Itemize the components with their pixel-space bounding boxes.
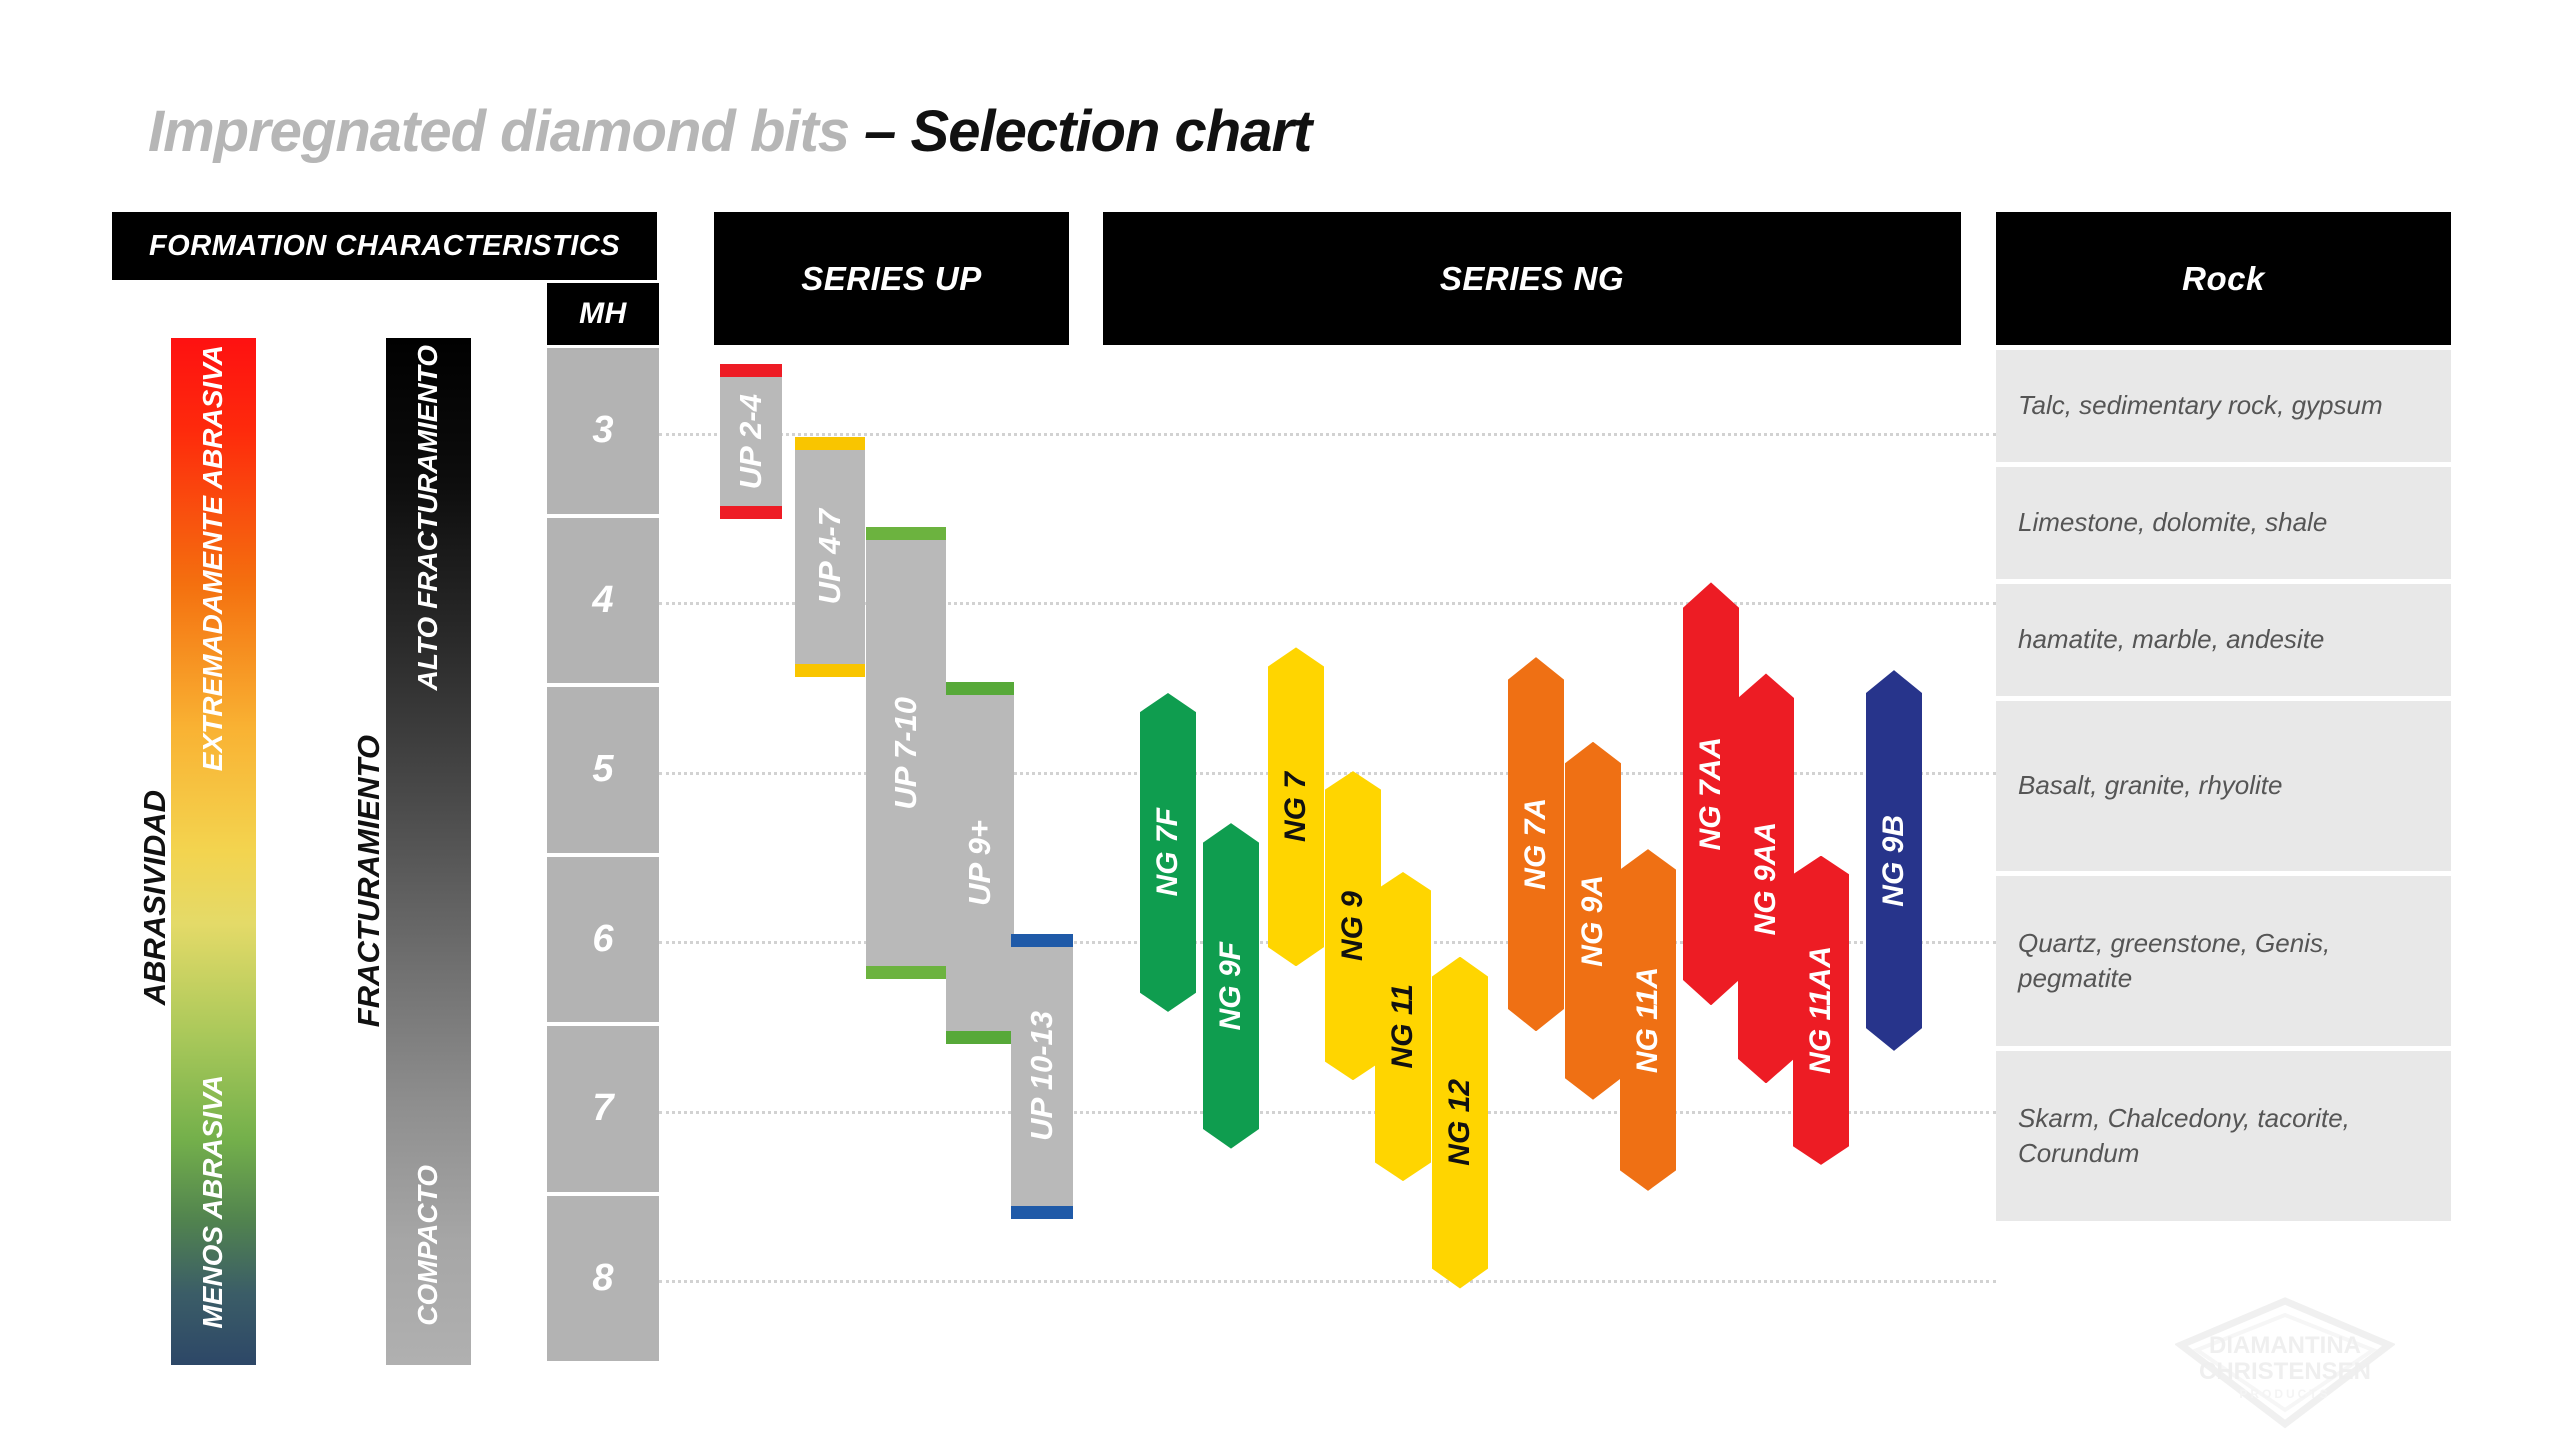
up-bar-label: UP 2-4 — [733, 394, 769, 489]
rock-row: Skarm, Chalcedony, tacorite, Corundum — [1996, 1051, 2451, 1221]
ng-arrow-label-wrap: NG 11AA — [1793, 856, 1849, 1165]
rock-row-text: hamatite, marble, andesite — [2018, 622, 2324, 657]
ng-arrow-label-wrap: NG 7 — [1268, 647, 1324, 966]
up-bar-label-wrap: UP 10-13 — [1011, 934, 1073, 1219]
up-bar-label: UP 10-13 — [1024, 1011, 1060, 1141]
header-formation-characteristics: FORMATION CHARACTERISTICS — [112, 212, 657, 280]
watermark-line3: PRODUCTS — [2239, 1387, 2330, 1401]
ng-series-arrow[interactable]: NG 7F — [1140, 693, 1196, 1012]
page-title-part2: – Selection chart — [864, 99, 1311, 164]
fracturamiento-axis-label: FRACTURAMIENTO — [351, 735, 387, 1027]
ng-arrow-label-wrap: NG 9 — [1325, 771, 1381, 1080]
ng-series-arrow[interactable]: NG 7 — [1268, 647, 1324, 966]
mh-scale-cell: 8 — [547, 1196, 659, 1362]
page-title: Impregnated diamond bits – Selection cha… — [148, 98, 1311, 165]
ng-series-arrow[interactable]: NG 9 — [1325, 771, 1381, 1080]
ng-arrow-label: NG 11AA — [1804, 946, 1838, 1074]
mh-scale-cell: 4 — [547, 518, 659, 684]
gridline — [659, 1280, 1996, 1283]
ng-arrow-label-wrap: NG 9A — [1565, 742, 1621, 1100]
ng-arrow-label: NG 7AA — [1694, 737, 1728, 850]
mh-scale-cell: 7 — [547, 1026, 659, 1192]
ng-arrow-label: NG 9 — [1336, 891, 1370, 961]
ng-arrow-label: NG 9A — [1576, 875, 1610, 967]
header-mh: MH — [547, 283, 659, 345]
fracturamiento-bottom-label: COMPACTO — [412, 1165, 444, 1326]
ng-arrow-label: NG 11A — [1631, 967, 1665, 1073]
up-series-bar[interactable]: UP 10-13 — [1011, 934, 1073, 1219]
up-bar-label-wrap: UP 9+ — [946, 682, 1014, 1045]
up-bar-label-wrap: UP 2-4 — [720, 364, 782, 519]
header-series-up: SERIES UP — [714, 212, 1069, 345]
ng-series-arrow[interactable]: NG 9AA — [1738, 673, 1794, 1083]
ng-series-arrow[interactable]: NG 7A — [1508, 657, 1564, 1031]
rock-row-text: Limestone, dolomite, shale — [2018, 505, 2327, 540]
ng-arrow-label-wrap: NG 11A — [1620, 849, 1676, 1191]
ng-series-arrow[interactable]: NG 7AA — [1683, 582, 1739, 1005]
up-bar-label: UP 4-7 — [812, 509, 848, 604]
mh-scale-column: 345678 — [547, 348, 659, 1365]
up-series-bar[interactable]: UP 4-7 — [795, 437, 865, 676]
ng-arrow-label-wrap: NG 7F — [1140, 693, 1196, 1012]
up-bar-label: UP 7-10 — [888, 697, 924, 810]
header-series-ng: SERIES NG — [1103, 212, 1961, 345]
ng-series-arrow[interactable]: NG 11AA — [1793, 856, 1849, 1165]
up-series-bar[interactable]: UP 7-10 — [866, 527, 946, 979]
up-bar-label: UP 9+ — [962, 820, 998, 906]
ng-series-arrow[interactable]: NG 12 — [1432, 957, 1488, 1289]
ng-arrow-label-wrap: NG 9AA — [1738, 673, 1794, 1083]
up-series-bar[interactable]: UP 2-4 — [720, 364, 782, 519]
mh-scale-cell: 5 — [547, 687, 659, 853]
header-rock: Rock — [1996, 212, 2451, 345]
rock-row: Quartz, greenstone, Genis, pegmatite — [1996, 876, 2451, 1046]
ng-arrow-label: NG 9AA — [1749, 822, 1783, 935]
ng-arrow-label-wrap: NG 9B — [1866, 670, 1922, 1051]
mh-scale-cell: 6 — [547, 857, 659, 1023]
rock-row-text: Basalt, granite, rhyolite — [2018, 768, 2282, 803]
fracturamiento-top-label: ALTO FRACTURAMIENTO — [412, 345, 444, 690]
rock-row: hamatite, marble, andesite — [1996, 584, 2451, 696]
ng-arrow-label: NG 11 — [1386, 984, 1420, 1068]
watermark-line2: CHRISTENSEN — [2199, 1358, 2371, 1385]
abrasividad-top-label: EXTREMADAMENTE ABRASIVA — [197, 345, 229, 771]
ng-series-arrow[interactable]: NG 9F — [1203, 823, 1259, 1148]
rock-row-text: Skarm, Chalcedony, tacorite, Corundum — [2018, 1101, 2429, 1171]
rock-row: Limestone, dolomite, shale — [1996, 467, 2451, 579]
ng-arrow-label-wrap: NG 9F — [1203, 823, 1259, 1148]
rock-row-text: Quartz, greenstone, Genis, pegmatite — [2018, 926, 2429, 996]
rock-row: Basalt, granite, rhyolite — [1996, 701, 2451, 871]
diamantina-christensen-logo-watermark: DIAMANTINA CHRISTENSEN PRODUCTS — [2175, 1295, 2395, 1430]
ng-arrow-label-wrap: NG 7A — [1508, 657, 1564, 1031]
watermark-line1: DIAMANTINA — [2209, 1332, 2361, 1359]
ng-arrow-label: NG 12 — [1443, 1079, 1477, 1166]
rock-row: Talc, sedimentary rock, gypsum — [1996, 350, 2451, 462]
ng-series-arrow[interactable]: NG 9A — [1565, 742, 1621, 1100]
ng-arrow-label: NG 7A — [1519, 798, 1553, 890]
ng-arrow-label-wrap: NG 11 — [1375, 872, 1431, 1181]
abrasividad-axis-label: ABRASIVIDAD — [137, 790, 173, 1005]
rock-row-text: Talc, sedimentary rock, gypsum — [2018, 388, 2383, 423]
ng-arrow-label-wrap: NG 7AA — [1683, 582, 1739, 1005]
gridline — [659, 433, 1996, 436]
ng-arrow-label-wrap: NG 12 — [1432, 957, 1488, 1289]
up-bar-label-wrap: UP 4-7 — [795, 437, 865, 676]
ng-arrow-label: NG 9B — [1877, 815, 1911, 907]
ng-arrow-label: NG 7 — [1279, 772, 1313, 842]
rock-column: Talc, sedimentary rock, gypsumLimestone,… — [1996, 350, 2451, 1226]
ng-series-arrow[interactable]: NG 11A — [1620, 849, 1676, 1191]
ng-series-arrow[interactable]: NG 9B — [1866, 670, 1922, 1051]
ng-series-arrow[interactable]: NG 11 — [1375, 872, 1431, 1181]
abrasividad-bottom-label: MENOS ABRASIVA — [197, 1075, 229, 1329]
mh-scale-cell: 3 — [547, 348, 659, 514]
ng-arrow-label: NG 7F — [1151, 808, 1185, 896]
ng-arrow-label: NG 9F — [1214, 942, 1248, 1030]
page-title-part1: Impregnated diamond bits — [148, 99, 864, 164]
up-bar-label-wrap: UP 7-10 — [866, 527, 946, 979]
up-series-bar[interactable]: UP 9+ — [946, 682, 1014, 1045]
